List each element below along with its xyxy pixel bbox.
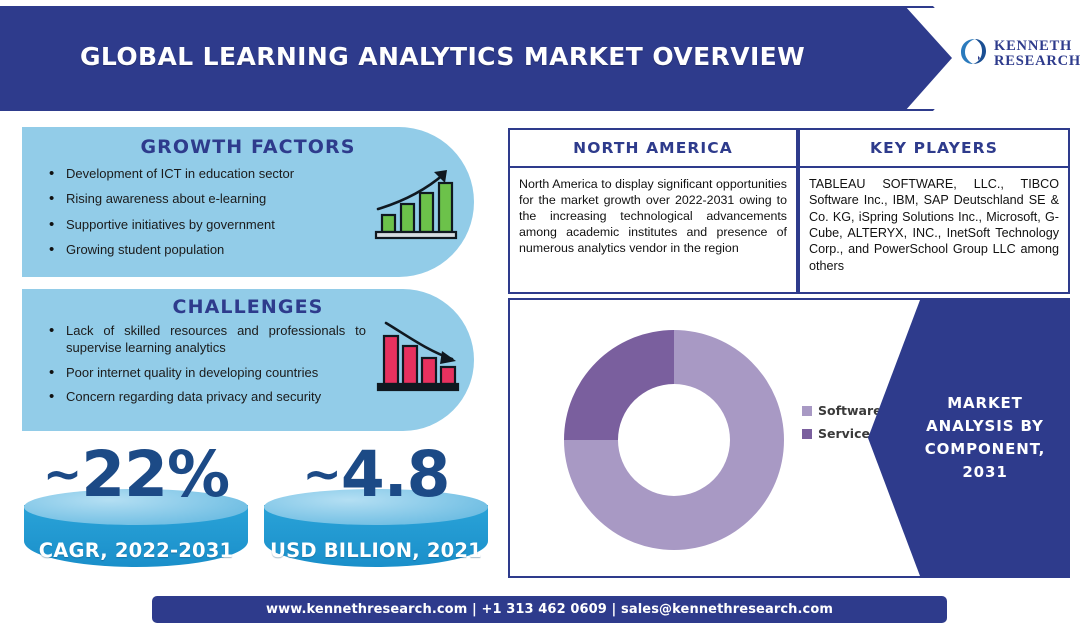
key-players-heading: KEY PLAYERS [800, 130, 1068, 168]
list-item: Supportive initiatives by government [44, 216, 354, 233]
key-players-body: TABLEAU SOFTWARE, LLC., TIBCO Software I… [800, 168, 1068, 280]
growth-factors-heading: GROWTH FACTORS [22, 127, 474, 158]
stat-label: USD BILLION, 2021 [258, 539, 494, 562]
page-title: GLOBAL LEARNING ANALYTICS MARKET OVERVIE… [80, 42, 805, 71]
donut-slice-service [564, 330, 674, 440]
list-item: Poor internet quality in developing coun… [44, 364, 366, 381]
key-players-box: KEY PLAYERS TABLEAU SOFTWARE, LLC., TIBC… [798, 128, 1070, 294]
stat-number: 22% [81, 438, 229, 511]
stat-number: 4.8 [341, 438, 450, 511]
list-item: Growing student population [44, 241, 354, 258]
ascending-bar-chart-icon [374, 167, 458, 246]
list-item: Concern regarding data privacy and secur… [44, 388, 366, 405]
stat-market-value: ~4.8 USD BILLION, 2021 [258, 443, 494, 573]
brand-name: KENNETH RESEARCH [994, 39, 1080, 69]
component-chart-panel: Software Service MARKET ANALYSIS BY COMP… [508, 298, 1070, 578]
market-analysis-callout: MARKET ANALYSIS BY COMPONENT, 2031 [868, 300, 1068, 576]
stat-cagr: ~22% CAGR, 2022-2031 [18, 443, 254, 573]
list-item: Lack of skilled resources and profession… [44, 322, 366, 357]
north-america-heading: NORTH AMERICA [510, 130, 796, 168]
list-item: Development of ICT in education sector [44, 165, 354, 182]
kenneth-research-swirl-icon [960, 36, 987, 71]
legend-swatch-icon [802, 406, 812, 416]
stat-label: CAGR, 2022-2031 [18, 539, 254, 562]
brand-line-2: RESEARCH [994, 54, 1080, 69]
approx-symbol: ~ [303, 447, 341, 502]
market-analysis-callout-text: MARKET ANALYSIS BY COMPONENT, 2031 [868, 392, 1068, 485]
descending-bar-chart-icon [376, 319, 460, 398]
legend-item-software: Software [802, 403, 882, 418]
north-america-box: NORTH AMERICA North America to display s… [508, 128, 798, 294]
donut-chart [558, 324, 790, 556]
approx-symbol: ~ [43, 447, 81, 502]
legend-swatch-icon [802, 429, 812, 439]
challenges-heading: CHALLENGES [22, 289, 474, 318]
stat-value: ~22% [18, 443, 254, 506]
footer-bar: www.kennethresearch.com | +1 313 462 060… [152, 596, 947, 623]
north-america-body: North America to display significant opp… [510, 168, 796, 262]
legend-label: Software [818, 403, 882, 418]
footer-contact-text[interactable]: www.kennethresearch.com | +1 313 462 060… [266, 602, 833, 617]
legend-label: Service [818, 426, 870, 441]
brand-logo[interactable]: KENNETH RESEARCH [960, 36, 1080, 71]
brand-line-1: KENNETH [994, 39, 1080, 54]
header-banner: GLOBAL LEARNING ANALYTICS MARKET OVERVIE… [0, 6, 1080, 111]
challenges-panel: CHALLENGES Lack of skilled resources and… [22, 289, 474, 431]
list-item: Rising awareness about e-learning [44, 190, 354, 207]
growth-factors-panel: GROWTH FACTORS Development of ICT in edu… [22, 127, 474, 277]
stat-value: ~4.8 [258, 443, 494, 506]
